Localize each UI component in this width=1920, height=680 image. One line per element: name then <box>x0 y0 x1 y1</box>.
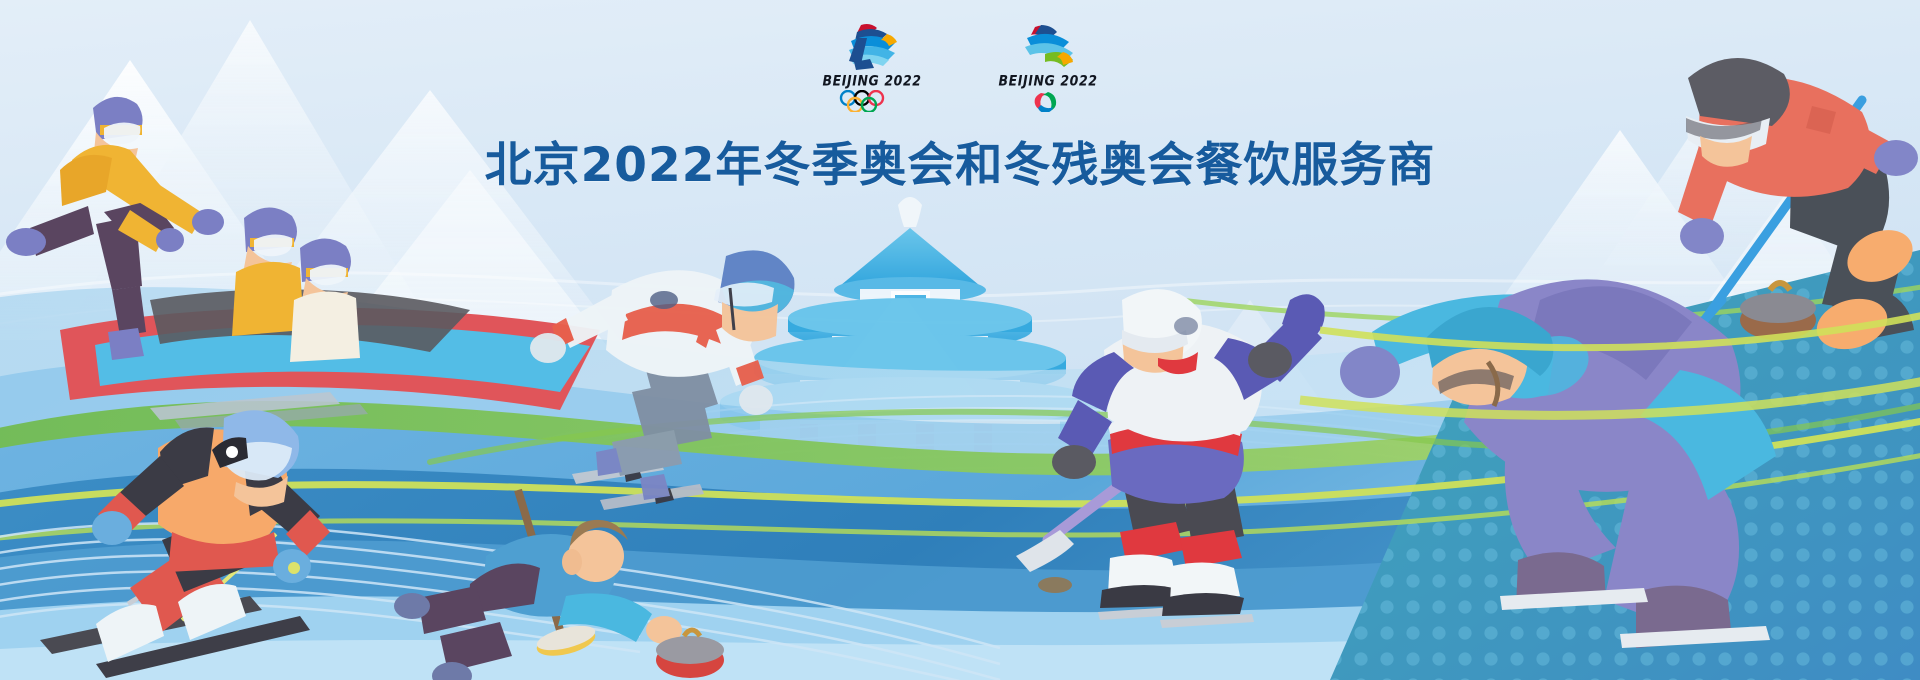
scene-illustration <box>0 0 1920 680</box>
winter-olympics-banner: BEIJING 2022 <box>0 0 1920 680</box>
